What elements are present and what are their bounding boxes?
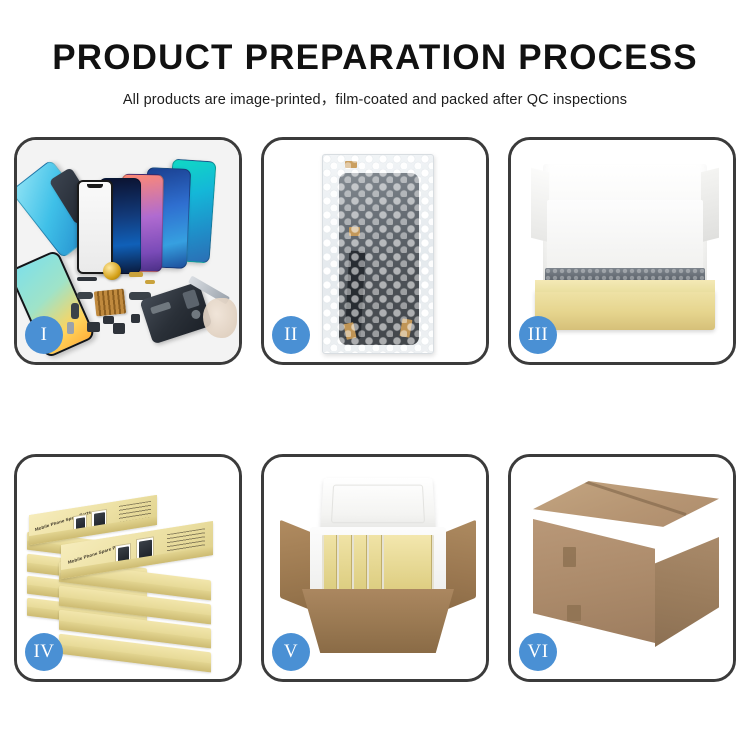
packed-box-1 bbox=[324, 535, 337, 591]
process-step-panel-3[interactable]: III bbox=[508, 137, 736, 365]
part-connector-icon bbox=[67, 322, 74, 334]
foam-insert-icon bbox=[547, 200, 703, 276]
part-bracket-icon bbox=[87, 322, 100, 332]
process-step-panel-5[interactable]: V bbox=[261, 454, 489, 682]
part-gold-strip-icon bbox=[129, 272, 143, 277]
page-subtitle: All products are image-printed，film-coat… bbox=[0, 88, 750, 109]
phone-screen-fan bbox=[73, 158, 233, 278]
process-step-panel-1[interactable]: I bbox=[14, 137, 242, 365]
housing-detail-icon bbox=[150, 302, 171, 315]
process-step-panel-2[interactable]: II bbox=[261, 137, 489, 365]
carton-tape-lower-icon bbox=[567, 605, 581, 621]
notch-icon bbox=[87, 184, 103, 188]
process-step-grid: I II bbox=[14, 137, 736, 682]
part-gold-tab-icon bbox=[145, 280, 155, 284]
gold-component-icon bbox=[103, 262, 121, 280]
sealed-carton-icon bbox=[533, 481, 719, 661]
part-button-icon bbox=[131, 314, 140, 323]
packed-box-5 bbox=[384, 535, 432, 591]
part-flex-a-icon bbox=[77, 292, 93, 299]
chip-grid-icon bbox=[94, 289, 126, 317]
part-strip-icon bbox=[77, 277, 97, 281]
process-step-panel-6[interactable]: VI bbox=[508, 454, 736, 682]
bubble-texture-overlay bbox=[323, 155, 433, 353]
foam-lid-icon bbox=[320, 478, 436, 532]
open-box-icon bbox=[529, 164, 721, 336]
carton-tape-upper-icon bbox=[563, 547, 576, 567]
packed-box-3 bbox=[354, 535, 367, 591]
step-badge-3: III bbox=[519, 316, 557, 354]
carton-body-icon bbox=[302, 589, 454, 653]
part-speaker-icon bbox=[113, 323, 125, 334]
packed-boxes-group bbox=[322, 535, 434, 591]
bubble-wrap-bag-icon bbox=[322, 154, 434, 354]
box-stack-icon: Mobile Phone Spare Parts Mobile Phone Sp… bbox=[25, 479, 231, 663]
camera-module-icon bbox=[182, 289, 200, 309]
step-badge-5: V bbox=[272, 633, 310, 671]
step-badge-1: I bbox=[25, 316, 63, 354]
packed-box-2 bbox=[339, 535, 352, 591]
tempered-glass-icon bbox=[77, 180, 113, 274]
carton-front-face bbox=[533, 519, 655, 643]
open-carton-icon bbox=[280, 477, 476, 657]
camera-lens-icon bbox=[190, 309, 201, 320]
box-base-icon bbox=[535, 290, 715, 330]
hand-icon bbox=[203, 298, 237, 338]
page-header: PRODUCT PREPARATION PROCESS All products… bbox=[0, 38, 750, 109]
step-badge-4: IV bbox=[25, 633, 63, 671]
carton-side-face bbox=[655, 537, 719, 647]
product-preparation-process-page: PRODUCT PREPARATION PROCESS All products… bbox=[0, 0, 750, 750]
page-title: PRODUCT PREPARATION PROCESS bbox=[0, 38, 750, 78]
carton-seam-icon bbox=[569, 475, 687, 516]
packed-box-4 bbox=[369, 535, 382, 591]
process-step-panel-4[interactable]: Mobile Phone Spare Parts Mobile Phone Sp… bbox=[14, 454, 242, 682]
part-block-a-icon bbox=[103, 316, 114, 324]
part-flex-b-icon bbox=[71, 303, 79, 319]
step-badge-2: II bbox=[272, 316, 310, 354]
step-badge-6: VI bbox=[519, 633, 557, 671]
